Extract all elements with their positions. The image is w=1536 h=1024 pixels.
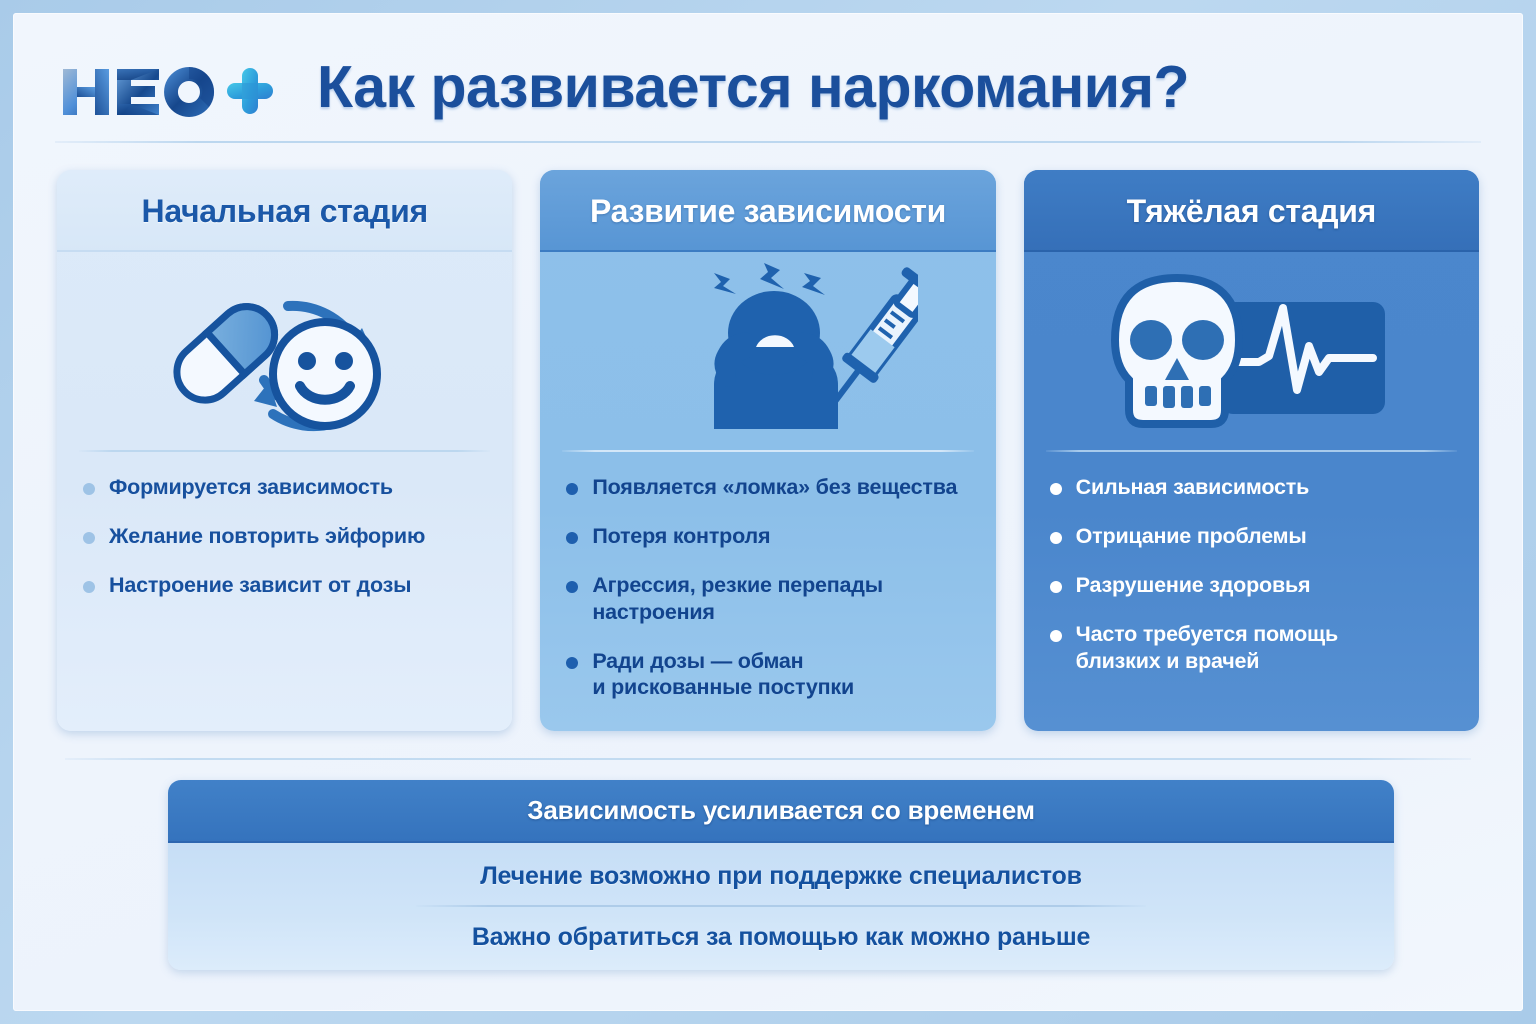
bullet-text: Появляется «ломка» без вещества — [592, 474, 957, 501]
bullet-dot-icon — [83, 581, 95, 593]
bullet-text: Формируется зависимость — [109, 474, 393, 501]
list-item: Потеря контроля — [566, 523, 969, 550]
poster-inner-panel: Как развивается наркомания? Начальная ст… — [13, 13, 1523, 1011]
pill-smiley-cycle-icon — [57, 252, 512, 450]
stage-card-developing-body: Появляется «ломка» без вещества Потеря к… — [540, 252, 995, 731]
stage-card-developing-bullets: Появляется «ломка» без вещества Потеря к… — [540, 452, 995, 701]
bullet-dot-icon — [566, 657, 578, 669]
list-item: Ради дозы — обман и рискованные поступки — [566, 648, 969, 702]
summary-banner-divider — [416, 905, 1146, 907]
list-item: Настроение зависит от дозы — [83, 572, 486, 599]
stage-card-developing[interactable]: Развитие зависимости — [540, 170, 995, 731]
stage-card-initial-header: Начальная стадия — [57, 170, 512, 252]
stage-cards-row: Начальная стадия — [57, 170, 1479, 731]
stage-card-developing-header: Развитие зависимости — [540, 170, 995, 252]
stage-card-initial-bullets: Формируется зависимость Желание повторит… — [57, 452, 512, 599]
bullet-text: Желание повторить эйфорию — [109, 523, 425, 550]
stage-card-developing-title: Развитие зависимости — [590, 193, 946, 230]
summary-banner-line-1: Лечение возможно при поддержке специалис… — [480, 862, 1082, 891]
list-item: Часто требуется помощь близких и врачей — [1050, 621, 1453, 675]
bullet-text: Потеря контроля — [592, 523, 770, 550]
bullet-text: Сильная зависимость — [1076, 474, 1309, 501]
stage-card-severe-title: Тяжёлая стадия — [1127, 193, 1376, 230]
bullet-dot-icon — [1050, 630, 1062, 642]
bullet-dot-icon — [566, 483, 578, 495]
bullet-text: Разрушение здоровья — [1076, 572, 1311, 599]
bullet-dot-icon — [1050, 532, 1062, 544]
stage-card-severe-header: Тяжёлая стадия — [1024, 170, 1479, 252]
stage-card-severe-bullets: Сильная зависимость Отрицание проблемы Р… — [1024, 452, 1479, 674]
stressed-person-syringe-icon — [540, 252, 995, 450]
poster-header: Как развивается наркомания? — [55, 35, 1481, 141]
bullet-dot-icon — [566, 532, 578, 544]
stage-card-initial-title: Начальная стадия — [142, 193, 428, 230]
summary-banner: Зависимость усиливается со временем Лече… — [168, 780, 1394, 970]
summary-banner-heading: Зависимость усиливается со временем — [527, 795, 1035, 826]
bullet-text: Агрессия, резкие перепады настроения — [592, 572, 969, 626]
list-item: Агрессия, резкие перепады настроения — [566, 572, 969, 626]
stage-card-initial-body: Формируется зависимость Желание повторит… — [57, 252, 512, 731]
summary-banner-body: Лечение возможно при поддержке специалис… — [168, 843, 1394, 970]
list-item: Желание повторить эйфорию — [83, 523, 486, 550]
list-item: Сильная зависимость — [1050, 474, 1453, 501]
infographic-poster: Как развивается наркомания? Начальная ст… — [0, 0, 1536, 1024]
list-item: Появляется «ломка» без вещества — [566, 474, 969, 501]
stage-card-severe-body: Сильная зависимость Отрицание проблемы Р… — [1024, 252, 1479, 731]
list-item: Отрицание проблемы — [1050, 523, 1453, 550]
stage-card-initial[interactable]: Начальная стадия — [57, 170, 512, 731]
list-item: Разрушение здоровья — [1050, 572, 1453, 599]
list-item: Формируется зависимость — [83, 474, 486, 501]
section-divider — [65, 758, 1471, 760]
skull-ecg-icon — [1024, 252, 1479, 450]
page-title: Как развивается наркомания? — [317, 53, 1189, 121]
stage-card-severe[interactable]: Тяжёлая стадия — [1024, 170, 1479, 731]
bullet-dot-icon — [83, 483, 95, 495]
header-divider — [55, 141, 1481, 143]
bullet-dot-icon — [83, 532, 95, 544]
summary-banner-header: Зависимость усиливается со временем — [168, 780, 1394, 843]
summary-banner-line-2: Важно обратиться за помощью как можно ра… — [472, 923, 1090, 952]
neo-plus-logo — [55, 59, 283, 121]
bullet-text: Отрицание проблемы — [1076, 523, 1307, 550]
bullet-text: Настроение зависит от дозы — [109, 572, 411, 599]
bullet-text: Часто требуется помощь близких и врачей — [1076, 621, 1338, 675]
bullet-dot-icon — [1050, 483, 1062, 495]
bullet-dot-icon — [566, 581, 578, 593]
bullet-text: Ради дозы — обман и рискованные поступки — [592, 648, 854, 702]
bullet-dot-icon — [1050, 581, 1062, 593]
